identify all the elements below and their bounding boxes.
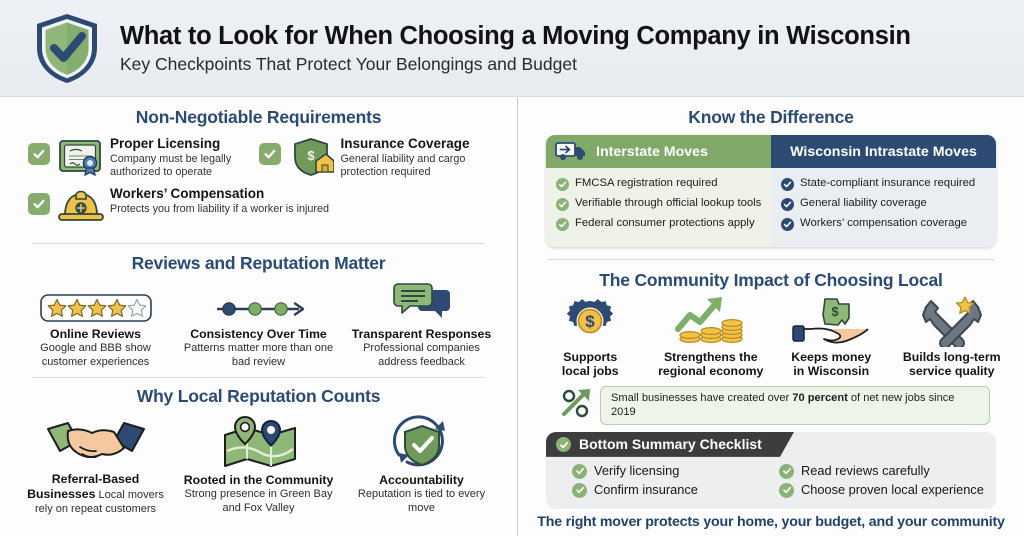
speech-bubbles-icon: [344, 278, 499, 322]
comparison-body-intrastate: State-compliant insurance required Gener…: [771, 168, 996, 247]
requirement-heading: Insurance Coverage: [341, 136, 490, 152]
comparison-item-label: Federal consumer protections apply: [575, 217, 755, 231]
community-item: Builds long-term service quality: [892, 297, 1013, 378]
community-label-line1: Builds long-term: [896, 350, 1009, 364]
requirement-heading: Proper Licensing: [110, 136, 259, 152]
page-header: What to Look for When Choosing a Moving …: [0, 0, 1024, 97]
shield-house-icon: $: [287, 134, 337, 180]
stat-prefix: Small businesses have created over: [611, 392, 792, 404]
closing-tagline: The right mover protects your home, your…: [530, 514, 1012, 530]
checklist-item: Choose proven local experience: [779, 482, 986, 498]
stat-text: Small businesses have created over 70 pe…: [600, 386, 990, 425]
requirement-item: Workers’ Compensation Protects you from …: [28, 184, 489, 230]
divider: [32, 377, 485, 378]
comparison-list-item: General liability coverage: [781, 197, 988, 211]
moving-truck-icon: [555, 139, 589, 165]
local-body: Strong presence in Green Bay and Fox Val…: [181, 488, 336, 515]
comparison-item-label: General liability coverage: [800, 197, 927, 211]
review-body: Professional companies address feedback: [344, 342, 499, 369]
hand-money-wi-icon: $: [775, 297, 888, 347]
summary-checklist-items: Verify licensing Read reviews carefully …: [546, 457, 996, 501]
checklist-item: Read reviews carefully: [779, 463, 986, 479]
checklist-item: Verify licensing: [572, 463, 779, 479]
checkbox-checked-icon: [28, 193, 50, 215]
comparison-column-intrastate: Wisconsin Intrastate Moves State-complia…: [771, 135, 996, 247]
section-title-community: The Community Impact of Choosing Local: [530, 270, 1012, 291]
stat-highlight: 70 percent: [792, 392, 848, 404]
comparison-header-label: Interstate Moves: [596, 144, 708, 160]
comparison-body-interstate: FMCSA registration required Verifiable t…: [546, 168, 771, 247]
star-rating-icon: [18, 278, 173, 322]
requirement-heading: Workers’ Compensation: [110, 186, 329, 202]
community-label-line2: service quality: [896, 364, 1009, 378]
summary-checklist-header: Bottom Summary Checklist: [546, 432, 794, 457]
shield-check-icon: [24, 5, 110, 91]
comparison-item-label: State-compliant insurance required: [800, 177, 975, 191]
svg-text:$: $: [586, 312, 596, 331]
comparison-list-item: Verifiable through official lookup tools: [556, 197, 763, 211]
check-circle-icon: [556, 178, 569, 191]
requirements-grid: Proper Licensing Company must be legally…: [14, 134, 503, 234]
check-circle-icon: [556, 198, 569, 211]
divider: [32, 243, 485, 244]
comparison-header-intrastate: Wisconsin Intrastate Moves: [771, 135, 996, 168]
review-item: Transparent Responses Professional compa…: [340, 278, 503, 369]
comparison-list-item: Workers’ compensation coverage: [781, 217, 988, 231]
review-heading: Online Reviews: [18, 327, 173, 341]
requirement-item: $ Insurance Coverage General liability a…: [259, 134, 490, 180]
requirement-body: Protects you from liability if a worker …: [110, 203, 329, 216]
local-item: Referral-Based Businesses Local movers r…: [14, 413, 177, 516]
checkbox-checked-icon: [259, 143, 281, 165]
gear-dollar-icon: $: [534, 297, 647, 347]
check-circle-icon: [781, 178, 794, 191]
comparison-list-item: State-compliant insurance required: [781, 177, 988, 191]
check-circle-icon: [779, 483, 794, 498]
community-item: Strengthens the regional economy: [651, 297, 772, 378]
local-body: Reputation is tied to every move: [344, 488, 499, 515]
local-item: Rooted in the Community Strong presence …: [177, 413, 340, 516]
check-circle-icon: [779, 464, 794, 479]
infographic-page: What to Look for When Choosing a Moving …: [0, 0, 1024, 536]
requirement-item: Proper Licensing Company must be legally…: [28, 134, 259, 180]
review-body: Google and BBB show customer experiences: [18, 342, 173, 369]
page-subtitle: Key Checkpoints That Protect Your Belong…: [120, 54, 911, 74]
community-label-line2: in Wisconsin: [775, 364, 888, 378]
divider: [548, 259, 994, 260]
checkbox-checked-icon: [28, 143, 50, 165]
review-heading: Transparent Responses: [344, 327, 499, 341]
review-item: Consistency Over Time Patterns matter mo…: [177, 278, 340, 369]
review-item: Online Reviews Google and BBB show custo…: [14, 278, 177, 369]
check-circle-icon: [556, 218, 569, 231]
local-heading: Accountability: [344, 473, 499, 487]
section-title-local: Why Local Reputation Counts: [14, 386, 503, 407]
reviews-grid: Online Reviews Google and BBB show custo…: [14, 278, 503, 369]
local-item: Accountability Reputation is tied to eve…: [340, 413, 503, 516]
community-label-line2: local jobs: [534, 364, 647, 378]
comparison-header-label: Wisconsin Intrastate Moves: [790, 144, 977, 160]
circle-check-icon: [556, 437, 571, 452]
section-title-requirements: Non-Negotiable Requirements: [14, 107, 503, 128]
svg-text:$: $: [307, 148, 315, 163]
checklist-item: Confirm insurance: [572, 482, 779, 498]
section-title-reviews: Reviews and Reputation Matter: [14, 253, 503, 274]
local-text: Referral-Based Businesses Local movers r…: [18, 472, 173, 516]
community-grid: $ Supports local jobs: [530, 297, 1012, 378]
comparison-item-label: Verifiable through official lookup tools: [575, 197, 761, 211]
right-column: Know the Difference: [517, 97, 1024, 536]
content-body: Non-Negotiable Requirements: [0, 97, 1024, 536]
review-body: Patterns matter more than one bad review: [181, 342, 336, 369]
community-label-line2: regional economy: [655, 364, 768, 378]
section-title-difference: Know the Difference: [530, 107, 1012, 128]
comparison-item-label: Workers’ compensation coverage: [800, 217, 967, 231]
timeline-arrow-icon: [181, 278, 336, 322]
checklist-item-label: Read reviews carefully: [801, 463, 930, 478]
summary-checklist-title: Bottom Summary Checklist: [579, 436, 762, 452]
community-label-line1: Keeps money: [775, 350, 888, 364]
growth-coins-icon: [655, 297, 768, 347]
community-item: $ Supports local jobs: [530, 297, 651, 378]
review-heading: Consistency Over Time: [181, 327, 336, 341]
local-heading: Rooted in the Community: [181, 473, 336, 487]
checklist-item-label: Choose proven local experience: [801, 482, 984, 497]
community-item: $ Keeps money in Wisconsin: [771, 297, 892, 378]
left-column: Non-Negotiable Requirements: [0, 97, 517, 536]
hard-hat-icon: [56, 184, 106, 230]
comparison-header-interstate: Interstate Moves: [546, 135, 771, 168]
check-circle-icon: [781, 218, 794, 231]
certificate-icon: [56, 134, 106, 180]
requirement-body: Company must be legally authorized to op…: [110, 153, 259, 179]
comparison-list-item: Federal consumer protections apply: [556, 217, 763, 231]
shield-cycle-icon: [344, 413, 499, 469]
check-circle-icon: [781, 198, 794, 211]
community-label-line1: Strengthens the: [655, 350, 768, 364]
comparison-column-interstate: Interstate Moves FMCSA registration requ…: [546, 135, 771, 247]
checklist-item-label: Confirm insurance: [594, 482, 698, 497]
local-grid: Referral-Based Businesses Local movers r…: [14, 413, 503, 516]
svg-text:$: $: [832, 304, 840, 319]
map-pins-icon: [181, 413, 336, 469]
comparison-table: Interstate Moves FMCSA registration requ…: [546, 135, 996, 247]
handshake-icon: [18, 413, 173, 469]
page-title: What to Look for When Choosing a Moving …: [120, 22, 911, 51]
community-label-line1: Supports: [534, 350, 647, 364]
percent-arrow-icon: [560, 388, 594, 423]
tools-star-icon: [896, 297, 1009, 347]
check-circle-icon: [572, 464, 587, 479]
checklist-item-label: Verify licensing: [594, 463, 679, 478]
stat-callout: Small businesses have created over 70 pe…: [560, 386, 990, 425]
summary-checklist-card: Bottom Summary Checklist Verify licensin…: [546, 432, 996, 509]
check-circle-icon: [572, 483, 587, 498]
requirement-body: General liability and cargo protection r…: [341, 153, 490, 179]
comparison-item-label: FMCSA registration required: [575, 177, 718, 191]
comparison-list-item: FMCSA registration required: [556, 177, 763, 191]
